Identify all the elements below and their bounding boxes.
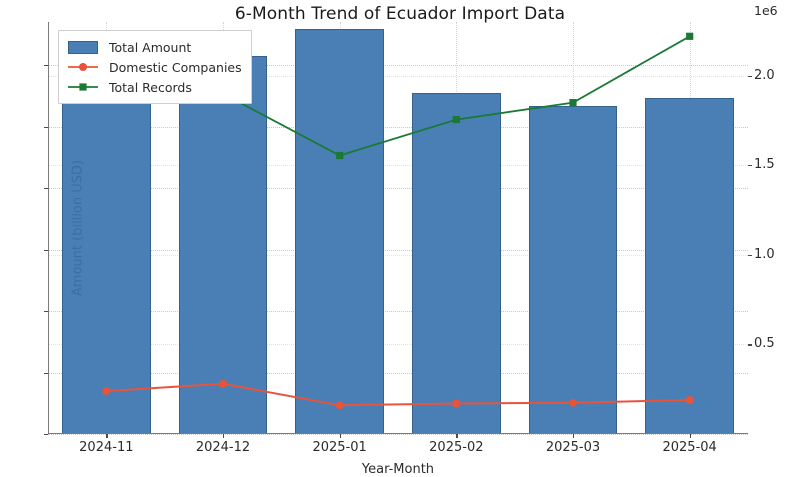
y-ticklabel-right: 2.0 (754, 68, 800, 83)
x-tick (106, 434, 107, 438)
legend-swatch-icon (66, 37, 100, 57)
bar-2025-03[interactable] (529, 106, 618, 434)
y-tick-left (44, 434, 48, 435)
legend-item-2[interactable]: Total Records (66, 77, 242, 97)
x-ticklabel-2025-01: 2025-01 (312, 440, 366, 455)
bar-2025-01[interactable] (295, 29, 384, 434)
legend-swatch-icon (66, 77, 100, 97)
y-ticklabel-right: 1.0 (754, 247, 800, 262)
x-tick (340, 434, 341, 438)
y-tick-right (748, 255, 752, 256)
gridline-horizontal-right (48, 344, 748, 346)
x-ticklabel-2024-12: 2024-12 (196, 440, 250, 455)
y-tick-right (748, 344, 752, 345)
gridline-horizontal (48, 434, 748, 436)
gridline-horizontal (48, 127, 748, 129)
chart-legend: Total AmountDomestic CompaniesTotal Reco… (58, 30, 252, 104)
legend-line-square-icon (67, 80, 99, 94)
y-tick-right (748, 165, 752, 166)
x-ticklabel-2025-03: 2025-03 (546, 440, 600, 455)
x-tick (223, 434, 224, 438)
bar-2025-04[interactable] (645, 98, 734, 434)
gridline-horizontal (48, 311, 748, 313)
y-tick-right (748, 76, 752, 77)
y-axis-label-left: Amount (billion USD) (71, 160, 86, 296)
legend-label: Domestic Companies (109, 60, 242, 75)
legend-item-1[interactable]: Domestic Companies (66, 57, 242, 77)
gridline-horizontal-right (48, 165, 748, 167)
x-ticklabel-2025-02: 2025-02 (429, 440, 483, 455)
gridline-horizontal (48, 188, 748, 190)
gridline-horizontal (48, 250, 748, 252)
legend-item-0[interactable]: Total Amount (66, 37, 242, 57)
y-ticklabel-right: 0.5 (754, 336, 800, 351)
x-ticklabel-2025-04: 2025-04 (662, 440, 716, 455)
x-tick (573, 434, 574, 438)
chart-figure: 6-Month Trend of Ecuador Import Data 1e6… (0, 0, 800, 477)
legend-line-circle-icon (67, 60, 99, 74)
bar-2024-12[interactable] (179, 56, 268, 434)
chart-title: 6-Month Trend of Ecuador Import Data (0, 4, 800, 24)
x-ticklabel-2024-11: 2024-11 (79, 440, 133, 455)
legend-swatch-icon (66, 57, 100, 77)
x-tick (456, 434, 457, 438)
gridline-horizontal (48, 373, 748, 375)
legend-label: Total Records (109, 80, 192, 95)
axis-spine-bottom (48, 433, 748, 434)
x-tick (690, 434, 691, 438)
legend-bar-patch-icon (68, 41, 98, 54)
axis-spine-left (48, 22, 49, 434)
right-axis-offset-label: 1e6 (754, 3, 778, 18)
legend-label: Total Amount (109, 40, 191, 55)
y-ticklabel-right: 1.5 (754, 157, 800, 172)
plot-area: 1e6 0510152025300.51.01.52.02024-112024-… (48, 22, 748, 434)
x-axis-label: Year-Month (48, 462, 748, 477)
gridline-horizontal-right (48, 255, 748, 257)
bar-2025-02[interactable] (412, 93, 501, 434)
